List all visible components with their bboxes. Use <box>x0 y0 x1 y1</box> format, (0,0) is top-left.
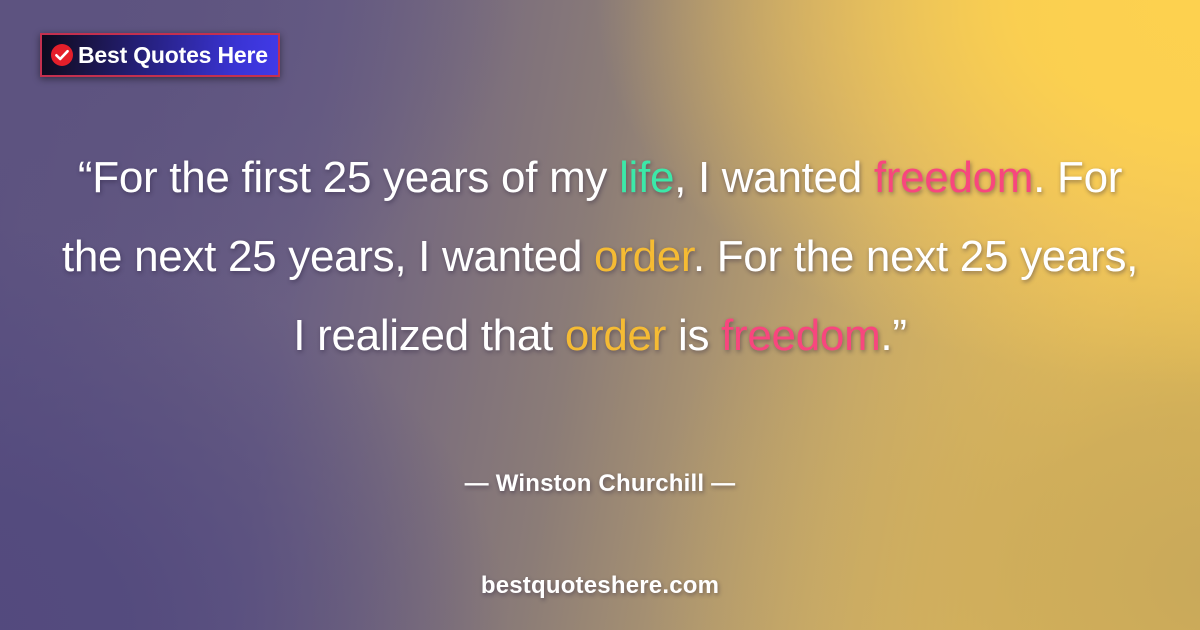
site-url: bestquoteshere.com <box>0 572 1200 600</box>
quote-text: “For the first 25 years of my life, I wa… <box>60 138 1140 375</box>
brand-badge[interactable]: Best Quotes Here <box>40 33 280 77</box>
quote-highlight-pink: freedom <box>721 311 880 360</box>
quote-highlight-amber: order <box>565 311 666 360</box>
quote-segment: .” <box>880 311 906 360</box>
brand-badge-label: Best Quotes Here <box>78 44 268 67</box>
quote-segment: is <box>666 311 721 360</box>
quote-segment: “For the first 25 years of my <box>78 153 619 202</box>
quote-card: Best Quotes Here “For the first 25 years… <box>0 0 1200 630</box>
verified-check-icon <box>50 43 74 67</box>
quote-highlight-pink: freedom <box>874 153 1033 202</box>
quote-segment: , I wanted <box>674 153 874 202</box>
quote-highlight-green: life <box>619 153 674 202</box>
quote-author: — Winston Churchill — <box>0 470 1200 498</box>
quote-highlight-amber: order <box>594 232 693 281</box>
